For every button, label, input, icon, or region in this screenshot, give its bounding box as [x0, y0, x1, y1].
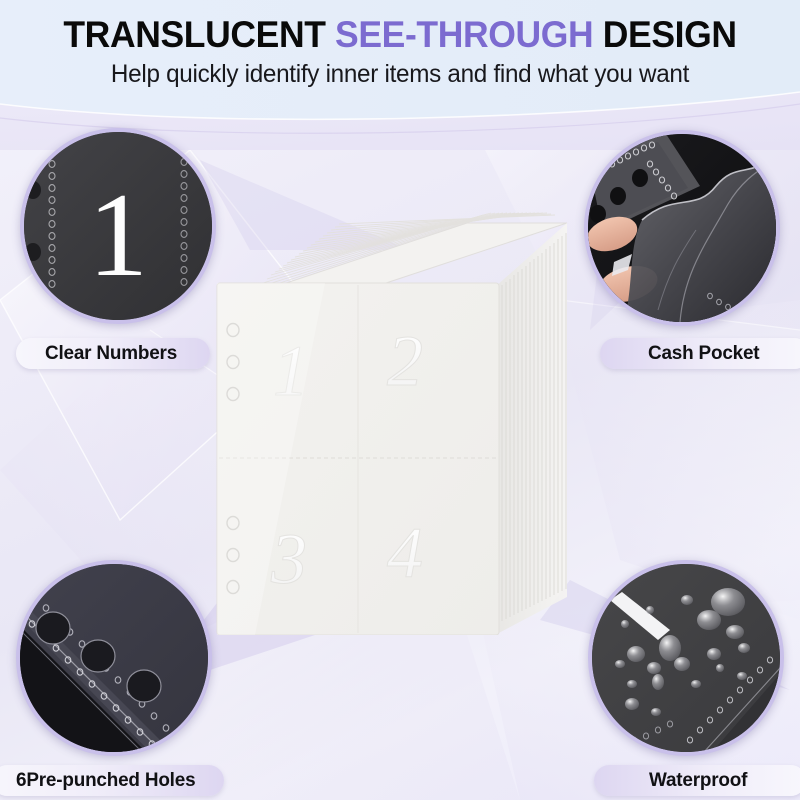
infographic-stage: TRANSLUCENT SEE-THROUGH DESIGN Help quic…: [0, 0, 800, 800]
front-sleeve: 1 2 3 4: [217, 283, 499, 635]
feature-image-waterproof: [588, 560, 784, 756]
feature-label-pill-pre-punched-holes: 6Pre-punched Holes: [0, 765, 224, 796]
feature-label-cash-pocket: Cash Pocket: [648, 342, 759, 365]
feature-image-pre-punched-holes: [16, 560, 212, 756]
feature-label-clear-numbers: Clear Numbers: [45, 342, 177, 365]
product-sleeve-stack: 1 2 3 4: [195, 205, 615, 635]
badge-number-1: 1: [88, 168, 148, 301]
feature-label-waterproof: Waterproof: [649, 769, 747, 792]
pocket-number-4: 4: [387, 513, 423, 593]
feature-image-cash-pocket: [584, 130, 780, 326]
feature-label-pill-waterproof: Waterproof: [594, 765, 800, 796]
feature-label-pill-cash-pocket: Cash Pocket: [600, 338, 800, 369]
pocket-number-2: 2: [387, 321, 423, 401]
feature-label-pill-clear-numbers: Clear Numbers: [16, 338, 210, 369]
feature-label-pre-punched-holes: 6Pre-punched Holes: [16, 769, 195, 792]
feature-image-clear-numbers: 1: [20, 128, 216, 324]
